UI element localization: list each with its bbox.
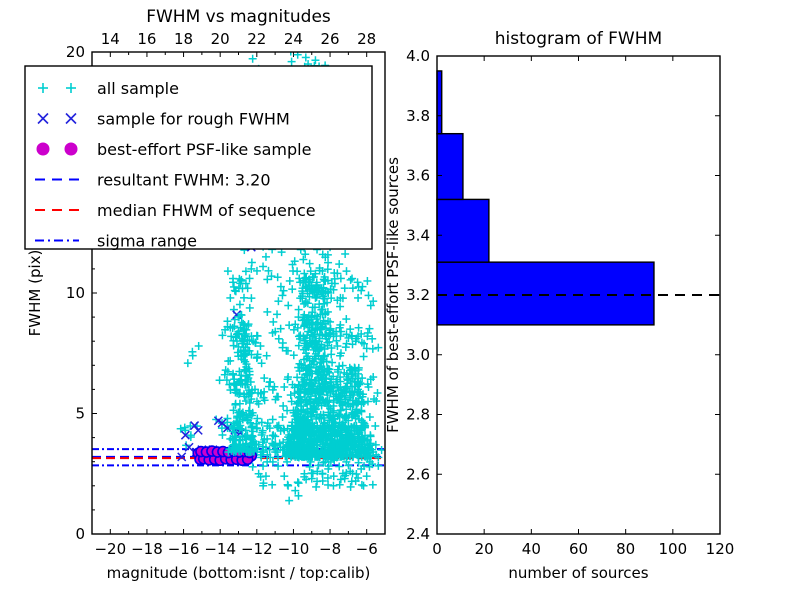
legend-label: sigma range <box>97 232 197 251</box>
top-axis-tick-label: 16 <box>137 30 156 48</box>
hist-x-tick-label: 80 <box>616 540 635 558</box>
hist-y-tick-label: 3.0 <box>406 346 430 364</box>
hist-y-axis-label: FWHM of best-effort PSF-like sources <box>384 157 402 433</box>
hist-x-tick-label: 20 <box>475 540 494 558</box>
top-axis-tick-label: 24 <box>284 30 303 48</box>
hist-y-tick-label: 3.2 <box>406 286 430 304</box>
legend-circle-icon <box>65 143 77 155</box>
y-axis-tick-label: 20 <box>66 43 85 61</box>
legend-label: median FHWM of sequence <box>97 201 316 220</box>
hist-x-tick-label: 100 <box>659 540 688 558</box>
x-axis-tick-label: −16 <box>168 540 200 558</box>
left-panel-title: FWHM vs magnitudes <box>146 7 331 27</box>
hist-y-tick-label: 3.6 <box>406 167 430 185</box>
x-axis-tick-label: −18 <box>131 540 163 558</box>
x-axis-tick-label: −8 <box>319 540 341 558</box>
top-axis-tick-label: 14 <box>101 30 120 48</box>
legend-circle-icon <box>37 143 49 155</box>
histogram-bar <box>437 199 489 262</box>
legend-label: resultant FWHM: 3.20 <box>97 171 271 190</box>
top-axis-tick-label: 18 <box>174 30 193 48</box>
top-axis-tick-label: 20 <box>211 30 230 48</box>
histogram-bar <box>437 71 442 134</box>
hist-y-tick-label: 3.8 <box>406 107 430 125</box>
legend-label: sample for rough FWHM <box>97 110 290 129</box>
y-axis-tick-label: 0 <box>75 525 85 543</box>
hist-x-tick-label: 40 <box>522 540 541 558</box>
legend-label: all sample <box>97 79 179 98</box>
hist-y-tick-label: 2.8 <box>406 406 430 424</box>
histogram-bar <box>437 262 654 325</box>
top-axis-tick-label: 22 <box>247 30 266 48</box>
x-axis-tick-label: −12 <box>241 540 273 558</box>
hist-y-tick-label: 3.4 <box>406 226 430 244</box>
y-axis-tick-label: 5 <box>75 405 85 423</box>
hist-x-tick-label: 0 <box>432 540 442 558</box>
hist-y-tick-label: 2.6 <box>406 465 430 483</box>
legend-label: best-effort PSF-like sample <box>97 140 311 159</box>
hist-y-tick-label: 4.0 <box>406 47 430 65</box>
left-y-axis-label: FWHM (pix) <box>26 250 44 337</box>
y-axis-tick-label: 10 <box>66 284 85 302</box>
x-axis-tick-label: −6 <box>356 540 378 558</box>
hist-x-tick-label: 120 <box>706 540 735 558</box>
x-axis-tick-label: −10 <box>278 540 310 558</box>
hist-x-axis-label: number of sources <box>508 564 648 582</box>
top-axis-tick-label: 28 <box>357 30 376 48</box>
right-panel-title: histogram of FWHM <box>495 29 662 49</box>
left-x-axis-label: magnitude (bottom:isnt / top:calib) <box>107 564 371 582</box>
x-axis-tick-label: −20 <box>94 540 126 558</box>
hist-y-tick-label: 2.4 <box>406 525 430 543</box>
hist-x-tick-label: 60 <box>569 540 588 558</box>
figure-canvas: FWHM vs magnitudes1416182022242628−20−18… <box>0 0 800 600</box>
top-axis-tick-label: 26 <box>321 30 340 48</box>
matplotlib-figure: FWHM vs magnitudes1416182022242628−20−18… <box>0 0 800 600</box>
x-axis-tick-label: −14 <box>204 540 236 558</box>
histogram-bar <box>437 134 463 200</box>
